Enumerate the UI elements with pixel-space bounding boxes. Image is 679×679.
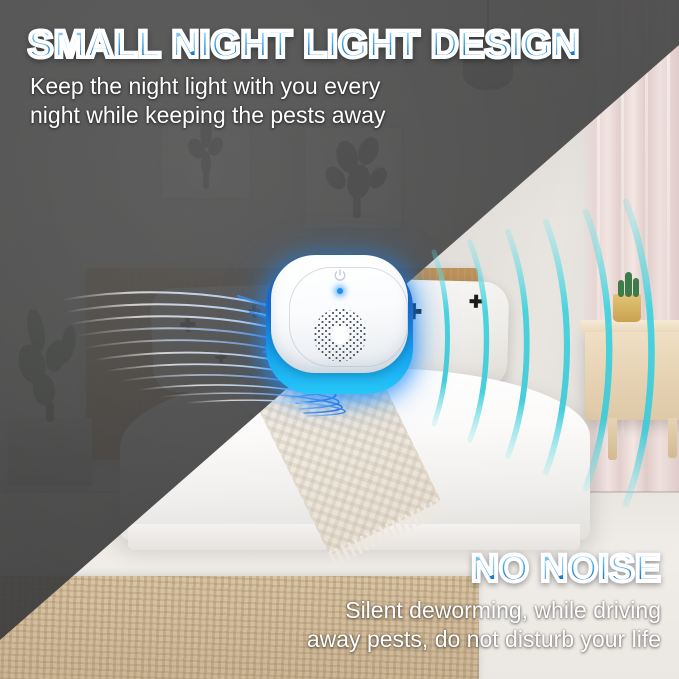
nightstand [585, 328, 679, 420]
nightstand-leg [608, 418, 617, 460]
bottom-subtext: Silent deworming, while driving away pes… [307, 596, 661, 655]
product-banner: ✚ ✚ ✚ ✚ ✚ ✚ [0, 0, 679, 679]
gold-vase [613, 294, 641, 322]
potted-cactus-nightstand [612, 268, 644, 298]
bottom-headline: NO NOISE [471, 548, 661, 591]
top-subtext: Keep the night light with you every nigh… [30, 72, 385, 131]
power-icon[interactable] [332, 268, 347, 283]
top-headline: SMALL NIGHT LIGHT DESIGN [28, 24, 580, 67]
led-indicator [337, 288, 343, 294]
device-body [271, 255, 408, 373]
nightstand-leg [668, 418, 677, 458]
ultrasonic-pest-repeller[interactable] [262, 255, 417, 400]
pillow-pattern-glyph: ✚ [469, 293, 484, 310]
speaker-grille [298, 301, 382, 369]
